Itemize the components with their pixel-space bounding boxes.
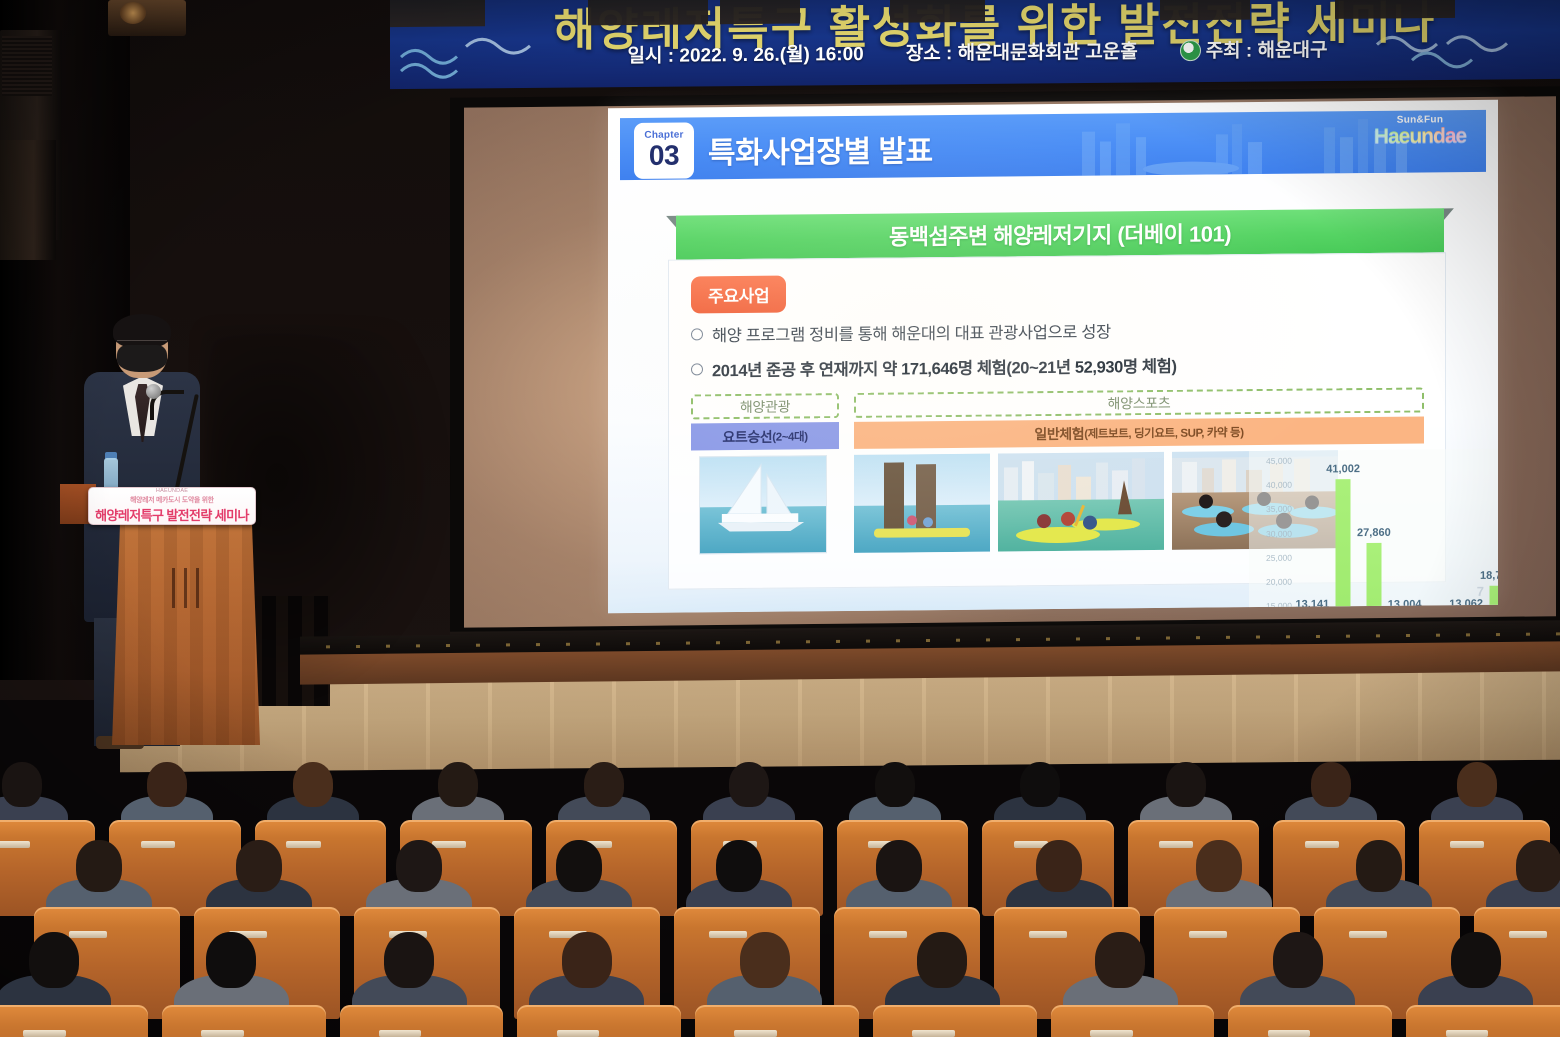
slide-page-number: 7: [1477, 584, 1484, 599]
bullet-item-1: 해양 프로그램 정비를 통해 해운대의 대표 관광사업으로 성장: [691, 318, 1111, 346]
podium-sign: HAEUNDAE 해양레저 메카도시 도약을 위한 해양레저특구 발전전략 세미…: [88, 487, 256, 525]
event-banner: 해양레저특구 활성화를 위한 발전전략 세미나 일시 : 2022. 9. 26…: [390, 0, 1560, 89]
banner-occluder-2: [588, 0, 708, 25]
auditorium-seat[interactable]: [1228, 1005, 1392, 1037]
chapter-badge: Chapter 03: [634, 122, 694, 179]
banner-date: 일시 : 2022. 9. 26.(월) 16:00: [628, 39, 864, 68]
presentation-slide: Chapter 03 특화사업장별 발표 Sun&Fun Haeundae 동백…: [608, 100, 1498, 614]
dashed-label-marine-sports: 해양스포츠: [854, 387, 1424, 417]
audience-person-head: [584, 762, 624, 807]
sunfun-logo-main-text: Haeundae: [1368, 125, 1472, 147]
ribbon-body: 동백섬주변 해양레저기지 (더베이 101): [676, 208, 1444, 259]
auditorium-seat[interactable]: [1051, 1005, 1215, 1037]
microphone-head-icon: [146, 384, 161, 399]
bullet-text-1: 해양 프로그램 정비를 통해 해운대의 대표 관광사업으로 성장: [712, 318, 1111, 346]
chart-y-tick: 25,000: [1250, 553, 1292, 563]
cat-gen-sub: (제트보트, 딩기요트, SUP, 카약 등): [1084, 424, 1243, 442]
audience-person-head: [29, 932, 79, 988]
audience-person-head: [876, 840, 922, 892]
auditorium-seat[interactable]: [873, 1005, 1037, 1037]
chart-y-tick: 45,000: [1250, 456, 1292, 466]
section-ribbon: 동백섬주변 해양레저기지 (더베이 101): [666, 208, 1454, 260]
auditorium-seat[interactable]: [695, 1005, 859, 1037]
audience-person-head: [293, 762, 333, 807]
audience-person-head: [1273, 932, 1323, 988]
audience-person-head: [1166, 762, 1206, 807]
photo-sailing-yacht: [699, 455, 827, 554]
chart-bar-slot: 27,860: [1359, 460, 1390, 613]
bullet-circle-icon: [691, 363, 703, 375]
audience-person-head: [2, 762, 42, 807]
sailboat-icon: [700, 456, 826, 553]
auditorium-seat[interactable]: [162, 1005, 326, 1037]
dashed-label-marine-tourism: 해양관광: [691, 393, 839, 419]
banner-host: 주최 : 해운대구: [1180, 35, 1328, 63]
chart-plot-area: 13,14141,00227,86013,0049,41913,06218,74…: [1297, 458, 1498, 613]
cat-yacht-sub: (2~4대): [772, 428, 807, 444]
banner-place: 장소 : 해운대문화회관 고운홀: [906, 37, 1138, 66]
audience-person-head: [1020, 762, 1060, 807]
chart-bar-slot: 9,419: [1420, 459, 1451, 613]
chart-bar: [1336, 480, 1351, 614]
audience-person-head: [76, 840, 122, 892]
audience-person-head: [1095, 932, 1145, 988]
audience-person-head: [1356, 840, 1402, 892]
bullet-item-2: 2014년 준공 후 연재까지 약 171,646명 체험(20~21년 52,…: [691, 353, 1177, 382]
audience-person-head: [236, 840, 282, 892]
slide-content-card: 주요사업 해양 프로그램 정비를 통해 해운대의 대표 관광사업으로 성장 20…: [668, 252, 1446, 589]
auditorium-seat[interactable]: [517, 1005, 681, 1037]
cat-gen-main: 일반체험: [1034, 423, 1084, 443]
sunfun-haeundae-logo: Sun&Fun Haeundae: [1368, 115, 1472, 160]
slide-header-bar: Chapter 03 특화사업장별 발표 Sun&Fun Haeundae: [620, 110, 1486, 180]
podium-sign-main-text: 해양레저특구 발전전략 세미나: [95, 505, 249, 524]
chart-bar-value-label: 41,002: [1326, 463, 1360, 475]
audience-person-head: [1516, 840, 1560, 892]
chapter-number-label: 03: [649, 141, 679, 171]
haeundae-gu-emblem-icon: [1180, 40, 1201, 61]
auditorium-seat[interactable]: [1406, 1005, 1560, 1037]
photo-windsurf-boards: [854, 454, 990, 553]
podium-sign-small-text: 해양레저 메카도시 도약을 위한: [130, 494, 214, 504]
audience-person-head: [384, 932, 434, 988]
auditorium-seat[interactable]: [0, 1005, 148, 1037]
auditorium-seat[interactable]: [340, 1005, 504, 1037]
audience-person-head: [1457, 762, 1497, 807]
banner-occluder-4: [890, 0, 985, 23]
category-bar-general-experience: 일반체험(제트보트, 딩기요트, SUP, 카약 등): [854, 416, 1424, 448]
audience-person-head: [1036, 840, 1082, 892]
chart-bar-value-label: 27,860: [1357, 527, 1391, 539]
kayak-icon: [998, 452, 1164, 552]
chart-bar-slot: 41,002: [1328, 460, 1359, 613]
chart-y-tick: 40,000: [1250, 480, 1292, 490]
category-bar-yacht-boarding: 요트승선(2~4대): [691, 422, 839, 450]
main-project-tag: 주요사업: [691, 276, 786, 314]
podium-vent-slots: [172, 568, 200, 608]
audience-person-head: [562, 932, 612, 988]
chart-bar-value-label: 18,749: [1480, 570, 1498, 582]
banner-occluder-6: [1335, 0, 1455, 19]
cat-yacht-main: 요트승선: [722, 426, 772, 446]
audience-person-head: [438, 762, 478, 807]
audience-person-head: [556, 840, 602, 892]
audience-seating-area: [0, 700, 1560, 1037]
banner-occluder-3: [720, 0, 800, 24]
ribbon-title-text: 동백섬주변 해양레저기지 (더베이 101): [889, 216, 1231, 251]
chart-bar: [1366, 543, 1381, 613]
audience-person-head: [716, 840, 762, 892]
chart-bar-slot: 13,141: [1297, 460, 1328, 613]
bullet-text-2: 2014년 준공 후 연재까지 약 171,646명 체험(20~21년 52,…: [712, 353, 1177, 381]
chart-bar-slot: 13,004: [1389, 459, 1420, 613]
audience-person-head: [917, 932, 967, 988]
audience-person-head: [1451, 932, 1501, 988]
photo-kayaking: [998, 452, 1164, 552]
chart-y-tick: 35,000: [1250, 504, 1292, 514]
audience-person-head: [1311, 762, 1351, 807]
audience-person-head: [206, 932, 256, 988]
audience-person-head: [1196, 840, 1242, 892]
chart-y-tick: 30,000: [1250, 528, 1292, 538]
windsurf-sails-icon: [854, 454, 990, 553]
audience-person-head: [147, 762, 187, 807]
face-mask-icon: [117, 345, 167, 372]
experience-visitors-bar-chart: 명 05,00010,00015,00020,00025,00030,00035…: [1249, 448, 1498, 613]
auditorium-scene: 해양레저특구 활성화를 위한 발전전략 세미나 일시 : 2022. 9. 26…: [0, 0, 1560, 1037]
audience-person-head: [740, 932, 790, 988]
chart-y-axis: 05,00010,00015,00020,00025,00030,00035,0…: [1249, 461, 1295, 614]
pa-speaker-stack-lower: [0, 140, 56, 260]
banner-occluder-5: [1160, 0, 1250, 20]
audience-person-head: [875, 762, 915, 807]
stage-rig-light: [108, 0, 186, 36]
chart-y-tick: 20,000: [1250, 577, 1292, 587]
bullet-circle-icon: [691, 328, 703, 340]
banner-occluder-1: [390, 0, 485, 27]
audience-person-head: [729, 762, 769, 807]
audience-person-head: [396, 840, 442, 892]
slide-title: 특화사업장별 발표: [708, 126, 933, 172]
